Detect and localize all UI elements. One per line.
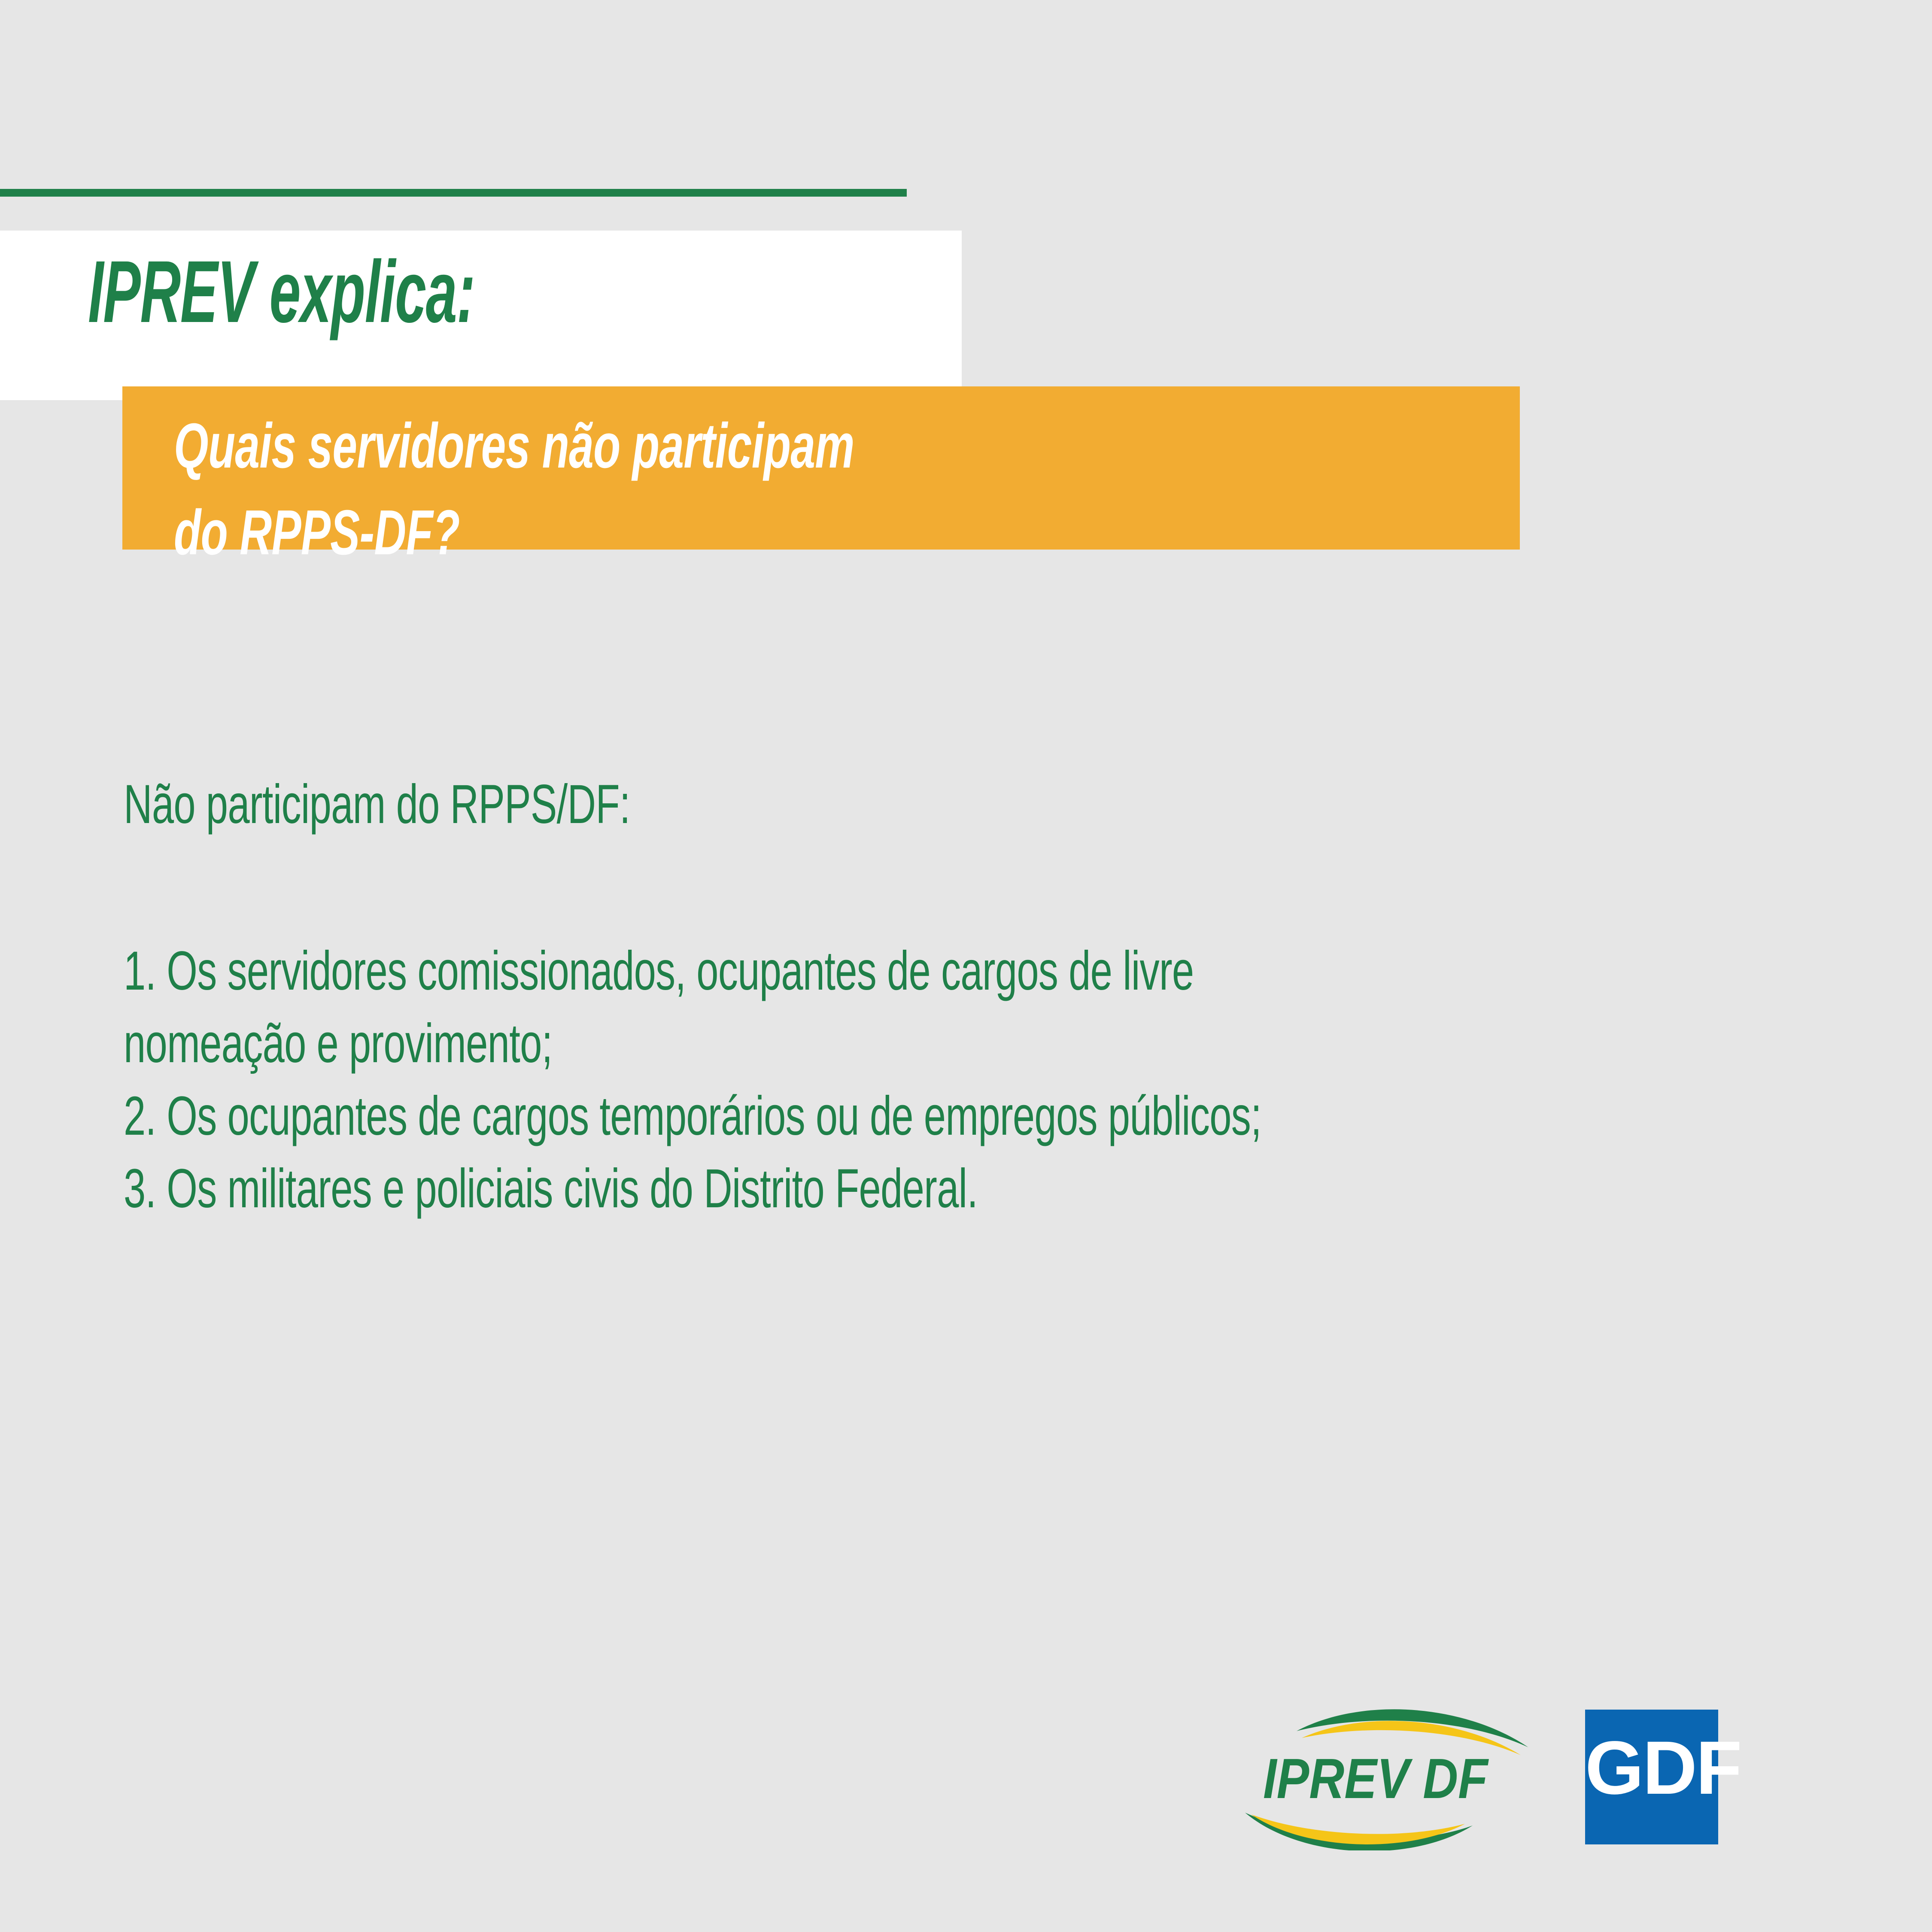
list-item: 1. Os servidores comissionados, ocupante…: [124, 935, 1391, 1080]
gdf-badge: GDF: [1585, 1710, 1718, 1844]
iprev-df-logo-icon: IPREV DF: [1232, 1700, 1567, 1850]
gdf-label: GDF: [1585, 1730, 1718, 1806]
iprev-df-logo: IPREV DF: [1232, 1700, 1567, 1850]
svg-text:IPREV DF: IPREV DF: [1263, 1747, 1489, 1810]
subtitle-plate: Quais servidores não participam do RPPS-…: [122, 386, 1520, 550]
body-copy: Não participam do RPPS/DF: 1. Os servido…: [124, 777, 1884, 1225]
subtitle-line-1: Quais servidores não participam: [174, 403, 854, 489]
body-lead-text: Não participam do RPPS/DF:: [124, 777, 1391, 832]
subtitle-line-2: do RPPS-DF?: [174, 489, 460, 576]
poster-canvas: IPREV explica: Quais servidores não part…: [0, 0, 1932, 1932]
title-plate: IPREV explica:: [0, 231, 962, 400]
header-rule: [0, 189, 907, 197]
list-item: 2. Os ocupantes de cargos temporários ou…: [124, 1080, 1391, 1153]
footer-logos: IPREV DF GDF: [1232, 1700, 1739, 1855]
page-title: IPREV explica:: [88, 248, 475, 336]
exclusion-list: 1. Os servidores comissionados, ocupante…: [124, 935, 1884, 1225]
list-item: 3. Os militares e policiais civis do Dis…: [124, 1153, 1391, 1225]
